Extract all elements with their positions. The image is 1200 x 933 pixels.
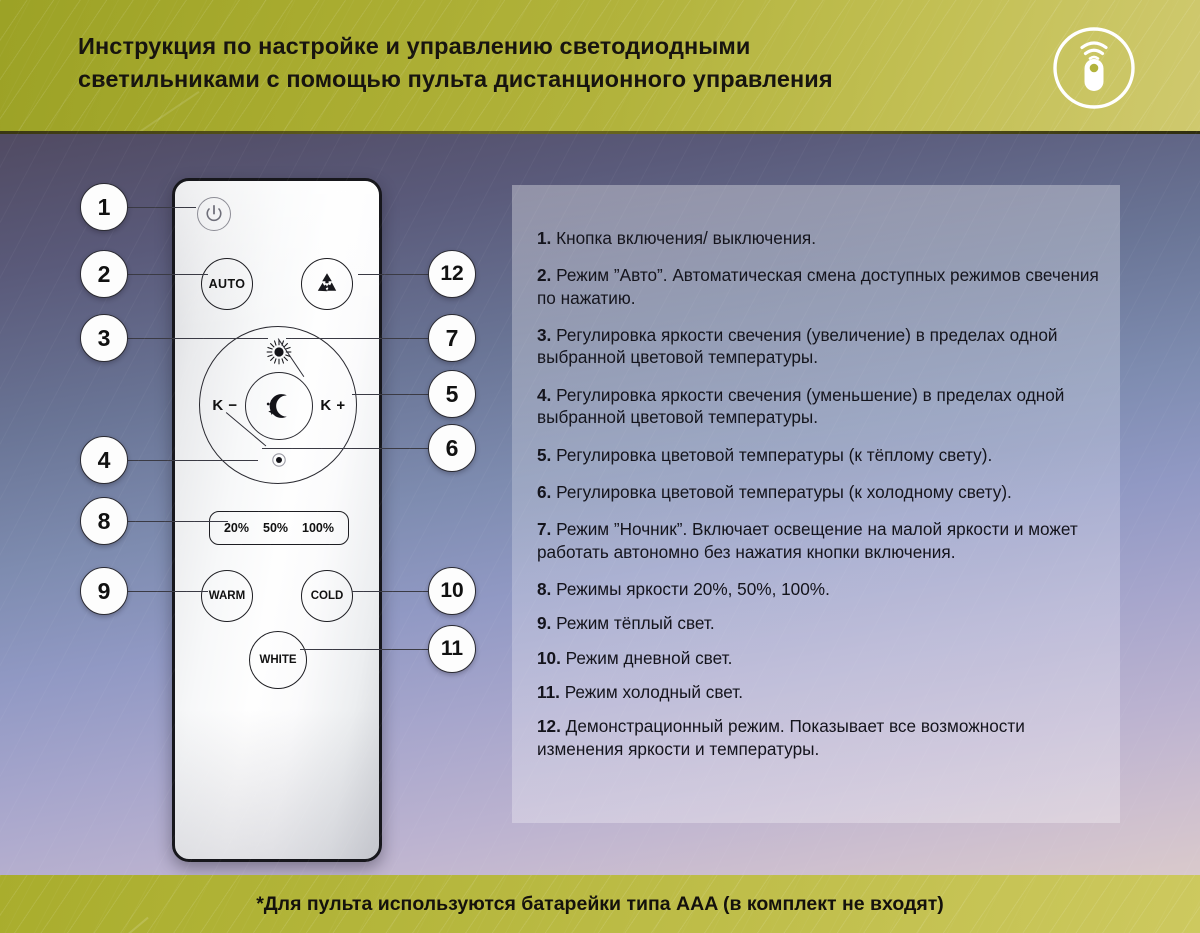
list-item-number: 12. xyxy=(537,716,561,736)
leader-line-8 xyxy=(128,521,228,522)
leader-line-2 xyxy=(128,274,208,275)
demo-mode-button[interactable] xyxy=(301,258,353,310)
list-item: 5. Регулировка цветовой температуры (к т… xyxy=(537,444,1107,466)
list-item-text: Демонстрационный режим. Показывает все в… xyxy=(537,716,1025,758)
brightness-down-button[interactable] xyxy=(272,453,286,467)
brightness-level-20[interactable]: 20% xyxy=(224,521,249,535)
callout-1[interactable]: 1 xyxy=(80,183,128,231)
callout-label: 11 xyxy=(441,637,463,661)
leader-line-12 xyxy=(358,274,430,275)
callout-label: 3 xyxy=(98,325,111,352)
brightness-level-50[interactable]: 50% xyxy=(263,521,288,535)
callout-8[interactable]: 8 xyxy=(80,497,128,545)
k-plus-label: K + xyxy=(320,397,345,414)
power-button[interactable] xyxy=(197,197,231,231)
white-button-label: WHITE xyxy=(259,654,296,666)
warm-button-label: WARM xyxy=(209,590,245,602)
auto-mode-button[interactable]: AUTO xyxy=(201,258,253,310)
page-title: Инструкция по настройке и управлению све… xyxy=(78,30,998,97)
list-item-text: Кнопка включения/ выключения. xyxy=(551,228,816,248)
list-item-number: 7. xyxy=(537,519,551,539)
list-item: 3. Регулировка яркости свечения (увеличе… xyxy=(537,324,1107,369)
list-item-text: Регулировка яркости свечения (увеличение… xyxy=(537,325,1058,367)
leader-line-7 xyxy=(286,338,430,339)
leader-line-3 xyxy=(128,338,268,339)
list-item-text: Режимы яркости 20%, 50%, 100%. xyxy=(551,579,830,599)
color-temp-cold-button[interactable]: K + xyxy=(314,393,352,417)
list-item-text: Режим дневной свет. xyxy=(561,648,732,668)
callout-2[interactable]: 2 xyxy=(80,250,128,298)
leader-line-4 xyxy=(128,460,258,461)
cold-light-button[interactable]: COLD xyxy=(301,570,353,622)
callout-5[interactable]: 5 xyxy=(428,370,476,418)
list-item: 10. Режим дневной свет. xyxy=(537,647,1107,669)
callout-10[interactable]: 10 xyxy=(428,567,476,615)
list-item-text: Режим холодный свет. xyxy=(560,682,743,702)
list-item-text: Режим тёплый свет. xyxy=(551,613,714,633)
list-item-number: 11. xyxy=(537,682,560,702)
list-item-text: Регулировка яркости свечения (уменьшение… xyxy=(537,385,1064,427)
recycle-icon xyxy=(311,268,343,300)
cold-button-label: COLD xyxy=(311,590,344,602)
list-item: 11. Режим холодный свет. xyxy=(537,681,1107,703)
list-item: 9. Режим тёплый свет. xyxy=(537,612,1107,634)
page-title-line-1: Инструкция по настройке и управлению све… xyxy=(78,30,998,63)
list-item-number: 3. xyxy=(537,325,551,345)
list-item-number: 4. xyxy=(537,385,551,405)
remote-control-signal-icon xyxy=(1052,26,1136,110)
page-title-line-2: светильниками с помощью пульта дистанцио… xyxy=(78,63,998,96)
callout-label: 4 xyxy=(98,447,111,474)
leader-line-6 xyxy=(262,448,430,449)
list-item: 1. Кнопка включения/ выключения. xyxy=(537,227,1107,249)
list-item: 4. Регулировка яркости свечения (уменьше… xyxy=(537,384,1107,429)
auto-button-label: AUTO xyxy=(209,277,246,291)
brightness-level-100[interactable]: 100% xyxy=(302,521,334,535)
remote-control-body: AUTO xyxy=(172,178,382,862)
header-banner: Инструкция по настройке и управлению све… xyxy=(0,0,1200,134)
dim-dot-icon xyxy=(272,453,286,467)
k-minus-label: K − xyxy=(212,397,237,414)
list-item: 8. Режимы яркости 20%, 50%, 100%. xyxy=(537,578,1107,600)
brightness-levels-button[interactable]: 20% 50% 100% xyxy=(209,511,349,545)
leader-line-1 xyxy=(128,207,196,208)
list-item-number: 10. xyxy=(537,648,561,668)
list-item-number: 9. xyxy=(537,613,551,633)
callout-label: 12 xyxy=(440,262,463,286)
list-item: 7. Режим ”Ночник”. Включает освещение на… xyxy=(537,518,1107,563)
callout-9[interactable]: 9 xyxy=(80,567,128,615)
list-item-number: 6. xyxy=(537,482,551,502)
leader-line-9 xyxy=(128,591,208,592)
callout-4[interactable]: 4 xyxy=(80,436,128,484)
callout-label: 6 xyxy=(446,435,459,462)
header-divider xyxy=(0,131,1200,134)
instructions-list: 1. Кнопка включения/ выключения. 2. Режи… xyxy=(537,227,1107,775)
callout-6[interactable]: 6 xyxy=(428,424,476,472)
night-mode-button[interactable] xyxy=(245,372,313,440)
list-item-text: Регулировка цветовой температуры (к тёпл… xyxy=(551,445,992,465)
list-item-number: 2. xyxy=(537,265,551,285)
power-icon xyxy=(203,203,225,225)
callout-11[interactable]: 11 xyxy=(428,625,476,673)
list-item-text: Регулировка цветовой температуры (к холо… xyxy=(551,482,1011,502)
callout-label: 5 xyxy=(446,381,459,408)
callout-label: 10 xyxy=(440,579,463,603)
moon-stars-night-icon xyxy=(261,388,297,424)
callout-12[interactable]: 12 xyxy=(428,250,476,298)
callout-label: 1 xyxy=(98,194,111,221)
callout-label: 8 xyxy=(98,508,111,535)
list-item-text: Режим ”Авто”. Автоматическая смена досту… xyxy=(537,265,1099,307)
infographic-page: Инструкция по настройке и управлению све… xyxy=(0,0,1200,933)
battery-note: *Для пульта используются батарейки типа … xyxy=(0,875,1200,933)
white-light-button[interactable]: WHITE xyxy=(249,631,307,689)
callout-3[interactable]: 3 xyxy=(80,314,128,362)
leader-line-11 xyxy=(300,649,430,650)
callout-7[interactable]: 7 xyxy=(428,314,476,362)
callout-label: 7 xyxy=(446,325,459,352)
list-item-text: Режим ”Ночник”. Включает освещение на ма… xyxy=(537,519,1078,561)
list-item-number: 1. xyxy=(537,228,551,248)
list-item-number: 5. xyxy=(537,445,551,465)
list-item: 12. Демонстрационный режим. Показывает в… xyxy=(537,715,1107,760)
footer-banner: *Для пульта используются батарейки типа … xyxy=(0,875,1200,933)
warm-light-button[interactable]: WARM xyxy=(201,570,253,622)
leader-line-10 xyxy=(352,591,430,592)
list-item: 6. Регулировка цветовой температуры (к х… xyxy=(537,481,1107,503)
callout-label: 9 xyxy=(98,578,111,605)
instructions-panel: 1. Кнопка включения/ выключения. 2. Режи… xyxy=(512,185,1120,823)
list-item: 2. Режим ”Авто”. Автоматическая смена до… xyxy=(537,264,1107,309)
leader-line-5 xyxy=(352,394,430,395)
callout-label: 2 xyxy=(98,261,111,288)
list-item-number: 8. xyxy=(537,579,551,599)
